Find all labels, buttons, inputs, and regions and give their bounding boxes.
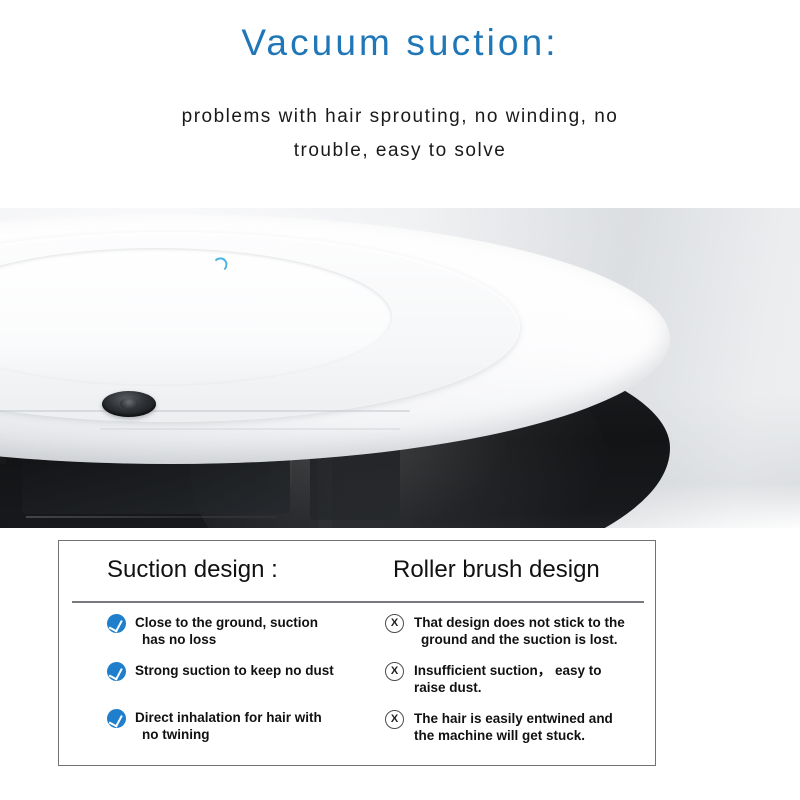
list-item-text: Insufficient suction， easy to raise dust… xyxy=(414,661,636,696)
column-header-suction-design: Suction design : xyxy=(107,556,278,584)
page-title: Vacuum suction: xyxy=(0,22,800,64)
column-header-roller-brush-design: Roller brush design xyxy=(393,556,600,584)
list-item: X The hair is easily entwined and the ma… xyxy=(385,709,647,744)
check-icon xyxy=(105,612,128,635)
subtitle-line-2: trouble, easy to solve xyxy=(0,134,800,168)
comparison-headers: Suction design : Roller brush design xyxy=(59,551,657,593)
list-item-text: Close to the ground, suction has no loss xyxy=(135,613,345,648)
list-item: X Insufficient suction， easy to raise du… xyxy=(385,661,647,696)
list-item-line-1: Close to the ground, suction xyxy=(135,615,318,630)
list-item-text: Direct inhalation for hair with no twini… xyxy=(135,708,345,743)
list-item: Direct inhalation for hair with no twini… xyxy=(107,708,369,743)
check-icon xyxy=(105,660,128,683)
column-roller-brush-design: X That design does not stick to the grou… xyxy=(385,613,647,757)
list-item: Close to the ground, suction has no loss xyxy=(107,613,369,648)
list-item-line-2: the machine will get stuck. xyxy=(414,727,636,744)
list-item: X That design does not stick to the grou… xyxy=(385,613,647,648)
chassis-highlight xyxy=(26,516,276,518)
subtitle-line-1: problems with hair sprouting, no winding… xyxy=(182,106,619,127)
list-item-line-1: The hair is easily entwined and xyxy=(414,711,613,726)
comparison-box: Suction design : Roller brush design Clo… xyxy=(58,540,656,766)
list-item-text: That design does not stick to the ground… xyxy=(414,613,636,648)
list-item-line-2: ground and the suction is lost. xyxy=(414,631,636,648)
x-icon: X xyxy=(385,710,404,729)
header-section: Vacuum suction: problems with hair sprou… xyxy=(0,0,800,200)
list-item-line-1: Insufficient suction， easy to xyxy=(414,663,602,678)
column-suction-design: Close to the ground, suction has no loss… xyxy=(107,613,369,756)
list-item-line-2: no twining xyxy=(135,726,345,743)
list-item-line-1: Direct inhalation for hair with xyxy=(135,710,322,725)
list-item-line-1: That design does not stick to the xyxy=(414,615,625,630)
check-icon xyxy=(105,707,128,730)
list-item-text: The hair is easily entwined and the mach… xyxy=(414,709,636,744)
brand-logo xyxy=(210,263,257,291)
brand-logo-mark xyxy=(212,257,228,273)
list-item-line-1: Strong suction to keep no dust xyxy=(135,663,334,678)
shell-seam xyxy=(0,410,410,412)
product-photo xyxy=(0,208,800,528)
shell-seam xyxy=(100,428,400,430)
header-divider xyxy=(72,601,644,603)
robot-vacuum-illustration xyxy=(0,214,670,528)
page-subtitle: problems with hair sprouting, no winding… xyxy=(0,100,800,168)
x-icon: X xyxy=(385,662,404,681)
power-button[interactable] xyxy=(102,391,156,417)
x-icon: X xyxy=(385,614,404,633)
list-item-line-2: raise dust. xyxy=(414,679,636,696)
list-item-text: Strong suction to keep no dust xyxy=(135,661,345,679)
list-item-line-2: has no loss xyxy=(135,631,345,648)
list-item: Strong suction to keep no dust xyxy=(107,661,369,695)
